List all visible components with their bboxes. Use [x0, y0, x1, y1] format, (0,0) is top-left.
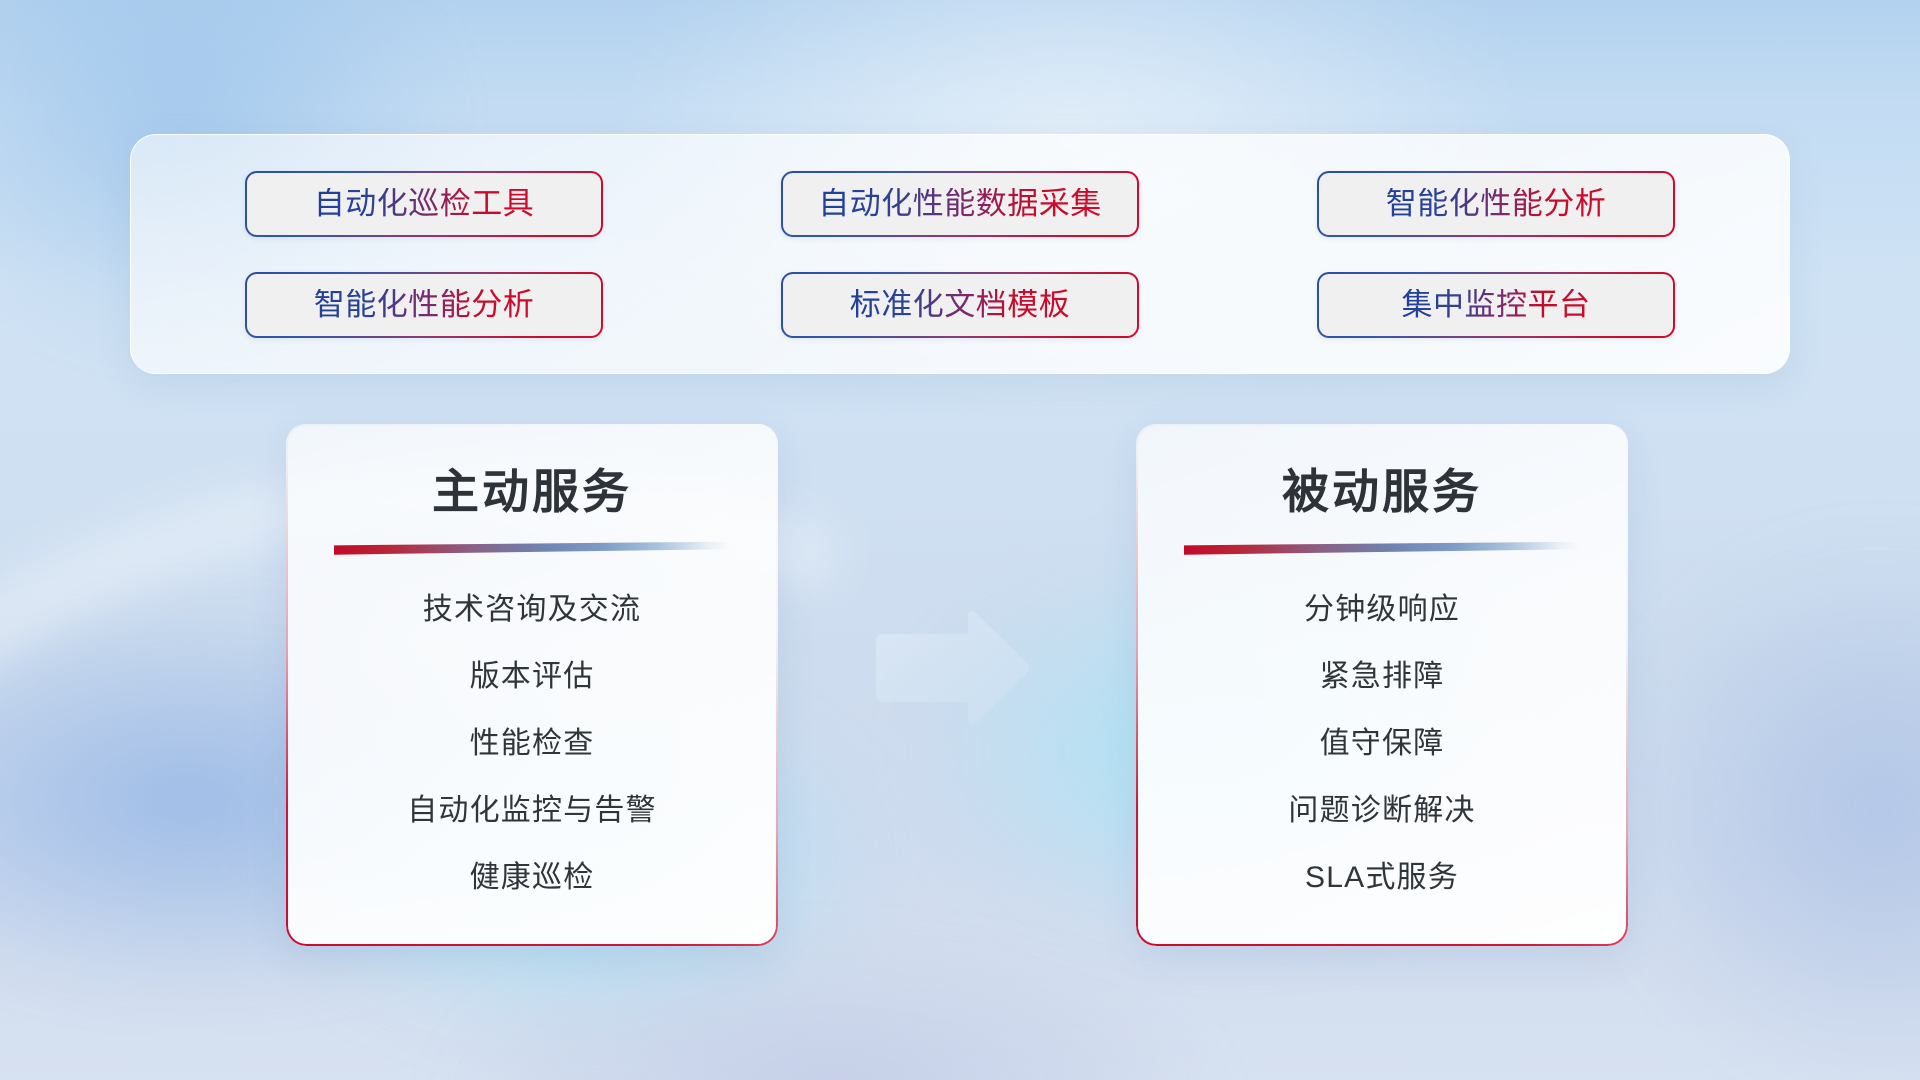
capability-tag-centralized-monitoring-platform[interactable]: 集中监控平台 — [1317, 272, 1675, 338]
list-item: 自动化监控与告警 — [286, 796, 778, 826]
list-item: SLA式服务 — [1136, 863, 1628, 893]
list-item: 紧急排障 — [1136, 662, 1628, 692]
right-arrow-icon — [872, 608, 1032, 728]
capability-tag-label: 标准化文档模板 — [850, 289, 1071, 320]
list-item: 技术咨询及交流 — [286, 595, 778, 625]
title-divider-rule — [1184, 542, 1580, 555]
capability-tag-label: 智能化性能分析 — [314, 289, 535, 320]
active-service-list: 技术咨询及交流 版本评估 性能检查 自动化监控与告警 健康巡检 — [286, 595, 778, 893]
title-divider-rule — [334, 542, 730, 555]
list-item: 分钟级响应 — [1136, 595, 1628, 625]
capability-tag-intelligent-performance-analysis-bottom[interactable]: 智能化性能分析 — [245, 272, 603, 338]
capability-tag-label: 自动化巡检工具 — [314, 188, 535, 219]
capability-tag-intelligent-performance-analysis-top[interactable]: 智能化性能分析 — [1317, 171, 1675, 237]
capability-tags-panel: 自动化巡检工具 自动化性能数据采集 智能化性能分析 智能化性能分析 标准化文档模… — [130, 134, 1790, 374]
active-service-card: 主动服务 技术咨询及交流 版本评估 性能检查 自动化监控与告警 健康巡检 — [286, 424, 778, 946]
slide-canvas: 自动化巡检工具 自动化性能数据采集 智能化性能分析 智能化性能分析 标准化文档模… — [0, 0, 1920, 1080]
list-item: 问题诊断解决 — [1136, 796, 1628, 826]
passive-service-card: 被动服务 分钟级响应 紧急排障 值守保障 问题诊断解决 SLA式服务 — [1136, 424, 1628, 946]
passive-service-title: 被动服务 — [1136, 424, 1628, 518]
list-item: 版本评估 — [286, 662, 778, 692]
active-service-title: 主动服务 — [286, 424, 778, 518]
capability-tag-automated-performance-data-collection[interactable]: 自动化性能数据采集 — [781, 171, 1139, 237]
list-item: 健康巡检 — [286, 863, 778, 893]
list-item: 性能检查 — [286, 729, 778, 759]
capability-tag-label: 自动化性能数据采集 — [818, 188, 1102, 219]
capability-tag-label: 智能化性能分析 — [1386, 188, 1607, 219]
list-item: 值守保障 — [1136, 729, 1628, 759]
capability-tag-label: 集中监控平台 — [1402, 289, 1591, 320]
capability-tags-grid: 自动化巡检工具 自动化性能数据采集 智能化性能分析 智能化性能分析 标准化文档模… — [131, 135, 1789, 373]
passive-service-list: 分钟级响应 紧急排障 值守保障 问题诊断解决 SLA式服务 — [1136, 595, 1628, 893]
capability-tag-automation-inspection-tool[interactable]: 自动化巡检工具 — [245, 171, 603, 237]
capability-tag-standardized-document-template[interactable]: 标准化文档模板 — [781, 272, 1139, 338]
